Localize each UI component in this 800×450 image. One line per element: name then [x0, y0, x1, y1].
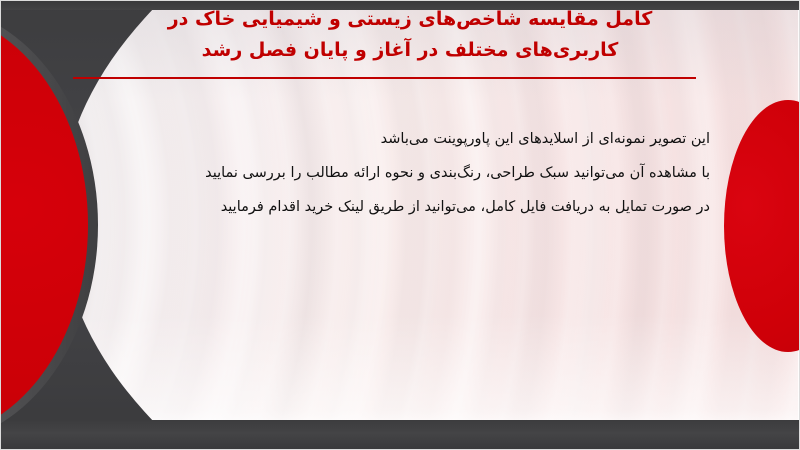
- body-line-1: این تصویر نمونه‌ای از اسلایدهای این پاور…: [130, 122, 710, 156]
- slide-title-line-1: کامل مقایسه شاخص‌های زیستی و شیمیایی خاک…: [90, 4, 730, 35]
- title-underline-rule: [73, 77, 696, 79]
- slide-title: کامل مقایسه شاخص‌های زیستی و شیمیایی خاک…: [90, 4, 730, 66]
- body-line-3: در صورت تمایل به دریافت فایل کامل، می‌تو…: [130, 190, 710, 224]
- slide-bottom-border-band: [0, 420, 800, 450]
- slide-body-text: این تصویر نمونه‌ای از اسلایدهای این پاور…: [130, 122, 710, 224]
- slide-title-line-2: کاربری‌های مختلف در آغاز و پایان فصل رشد: [90, 35, 730, 66]
- presentation-slide: کامل مقایسه شاخص‌های زیستی و شیمیایی خاک…: [0, 0, 800, 450]
- body-line-2: با مشاهده آن می‌توانید سبک طراحی، رنگ‌بن…: [130, 156, 710, 190]
